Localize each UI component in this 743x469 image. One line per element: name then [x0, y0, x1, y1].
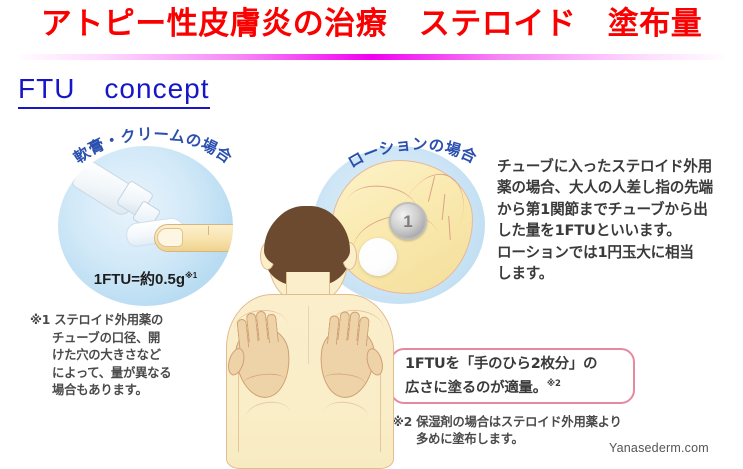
callout-line-2-text: 広さに塗るのが適量。: [405, 380, 547, 396]
footnote-2-text: 保湿剤の場合はステロイド外用薬より: [416, 415, 621, 429]
footnote-2: ※2 保湿剤の場合はステロイド外用薬より 多めに塗布します。: [392, 414, 642, 449]
page-title: アトピー性皮膚炎の治療 ステロイド 塗布量: [0, 2, 743, 46]
description-line: 薬の場合、大人の人差し指の先端: [497, 177, 735, 198]
palm-print-finger: [357, 316, 370, 346]
description-line: した量を1FTUといいます。: [497, 220, 735, 241]
footnote-1-line: 場合もあります。: [30, 382, 240, 400]
palm-print-base-line: [322, 372, 365, 391]
site-watermark: Yanasederm.com: [609, 441, 709, 455]
dosage-callout-box: 1FTUを「手のひら2枚分」の 広さに塗るのが適量。※2: [390, 348, 635, 404]
ftu-description-paragraph: チューブに入ったステロイド外用 薬の場合、大人の人差し指の先端 から第1関節まで…: [497, 156, 735, 284]
ftu-gram-value-note: ※1: [185, 271, 197, 280]
footnote-1-first-line: ※1 ステロイド外用薬の: [30, 312, 240, 330]
footnote-1-line: けた穴の大きさなど: [30, 347, 240, 365]
gradient-divider: [18, 54, 725, 60]
footnote-1-line: によって、量が異なる: [30, 365, 240, 383]
hair-crown: [264, 206, 350, 268]
footnote-2-line: 多めに塗布します。: [392, 431, 642, 448]
ointment-cream-panel: 1FTU=約0.5g※1: [58, 146, 233, 306]
palm-print-base-line: [242, 372, 285, 391]
description-line: から第1関節までチューブから出: [497, 199, 735, 220]
footnote-2-first-line: ※2 保湿剤の場合はステロイド外用薬より: [392, 414, 642, 431]
footnote-1: ※1 ステロイド外用薬の チューブの口径、開 けた穴の大きさなど によって、量が…: [30, 312, 240, 400]
footnote-1-line: チューブの口径、開: [30, 330, 240, 348]
ftu-gram-value-text: 1FTU=約0.5g: [94, 271, 185, 288]
footnote-2-marker: ※2: [392, 415, 412, 429]
description-line: チューブに入ったステロイド外用: [497, 156, 735, 177]
footnote-1-marker: ※1: [30, 313, 50, 327]
spine-line: [308, 306, 309, 364]
fingernail-illustration: [157, 228, 183, 247]
ftu-gram-value: 1FTU=約0.5g※1: [58, 268, 233, 289]
callout-line-2: 広さに塗るのが適量。※2: [405, 374, 597, 398]
description-line: します。: [497, 263, 735, 284]
finger-joint-line: [208, 226, 209, 235]
dosage-callout-text: 1FTUを「手のひら2枚分」の 広さに塗るのが適量。※2: [405, 354, 597, 399]
description-line: ローションでは1円玉大に相当: [497, 242, 735, 263]
footnote-1-text: ステロイド外用薬の: [54, 313, 163, 327]
callout-line-1: 1FTUを「手のひら2枚分」の: [405, 354, 597, 375]
section-heading-ftu-concept: FTU concept: [18, 72, 210, 109]
body-back-figure: [212, 206, 408, 467]
callout-note-marker: ※2: [547, 379, 561, 389]
